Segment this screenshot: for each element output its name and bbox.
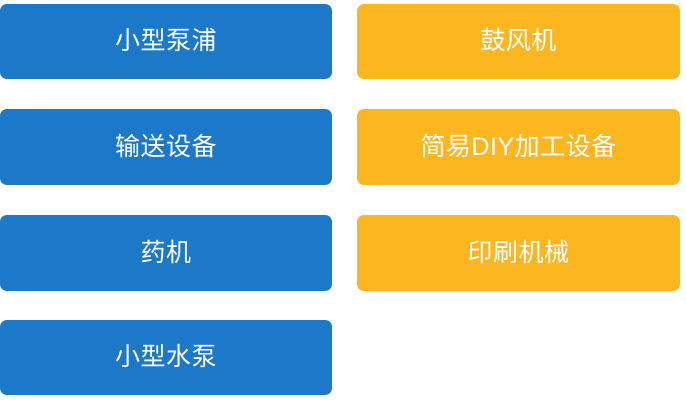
category-button-xiaoxingbengpu[interactable]: 小型泵浦	[0, 4, 332, 79]
category-button-yaoji[interactable]: 药机	[0, 215, 332, 291]
category-button-label: 鼓风机	[480, 29, 557, 54]
category-button-label: 小型水泵	[115, 345, 217, 370]
category-button-label: 小型泵浦	[115, 29, 217, 54]
category-button-shusongshebei[interactable]: 输送设备	[0, 109, 332, 185]
category-button-label: 简易DIY加工设备	[420, 135, 616, 160]
category-button-label: 印刷机械	[467, 241, 569, 266]
category-button-gufengji[interactable]: 鼓风机	[357, 4, 680, 79]
category-button-jianyi-diy-jiagongshebei[interactable]: 简易DIY加工设备	[357, 109, 680, 185]
category-button-yinshuajixie[interactable]: 印刷机械	[357, 215, 680, 291]
category-button-grid: 小型泵浦 鼓风机 输送设备 简易DIY加工设备 药机 印刷机械 小型水泵	[0, 0, 686, 403]
category-button-label: 输送设备	[115, 135, 217, 160]
category-button-label: 药机	[140, 241, 191, 266]
category-button-xiaoxingshuibeng[interactable]: 小型水泵	[0, 320, 332, 395]
